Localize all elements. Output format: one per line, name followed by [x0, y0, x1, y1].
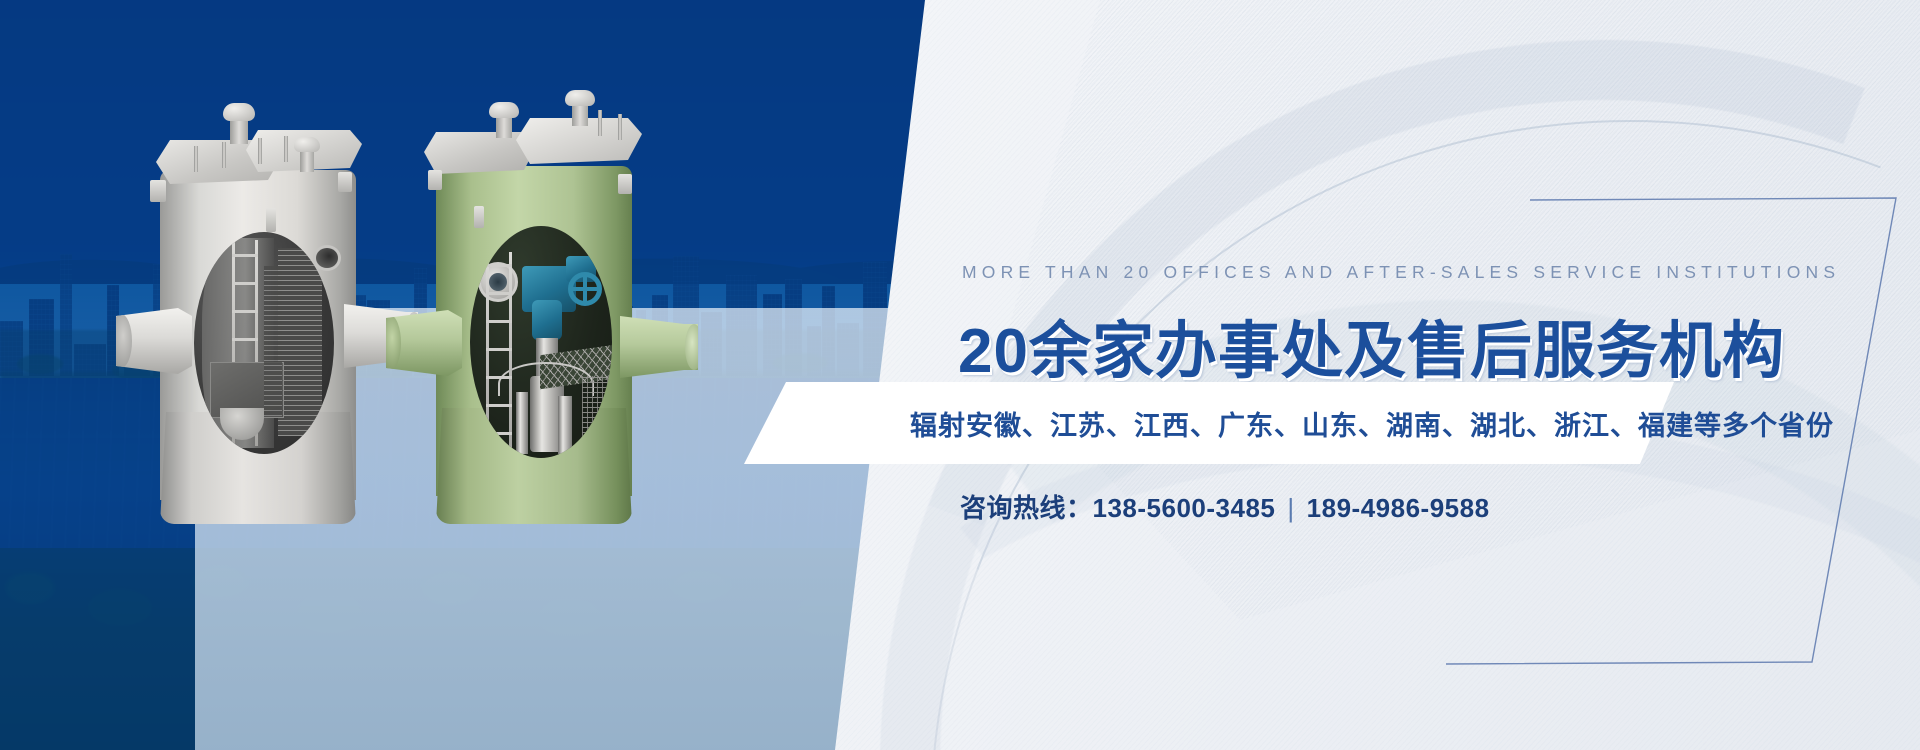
green-outlet-pipe-right	[620, 316, 698, 378]
green-handwheel	[568, 272, 602, 306]
gray-cutaway-window	[194, 232, 334, 454]
gray-guide-rod-2	[222, 142, 226, 168]
green-guide-rod-2	[618, 114, 622, 140]
gray-side-port	[316, 248, 338, 268]
gray-guide-rod-4	[284, 136, 288, 162]
page-title: 20余家办事处及售后服务机构	[958, 300, 1785, 390]
subtitle-text: 辐射安徽、江苏、江西、广东、山东、湖南、湖北、浙江、福建等多个省份	[910, 404, 1834, 443]
eyebrow-english-tagline: MORE THAN 20 OFFICES AND AFTER-SALES SER…	[962, 262, 1840, 283]
promo-banner: MORE THAN 20 OFFICES AND AFTER-SALES SER…	[0, 0, 1920, 750]
green-inlet-pipe-left	[386, 310, 462, 376]
gray-bracket	[266, 208, 276, 232]
hotline-separator: |	[1275, 493, 1306, 523]
green-lifting-lug-right	[618, 174, 632, 194]
green-vent-stack-b	[572, 100, 588, 126]
green-vent-stack-a	[496, 112, 512, 138]
gray-guide-rod-3	[258, 138, 262, 164]
green-standpipe-2	[558, 396, 572, 454]
gray-lifting-lug-left	[150, 180, 166, 202]
hotline-block: 咨询热线：138-5600-3485|189-4986-9588	[960, 488, 1490, 525]
gray-grate-panel-inner	[264, 266, 282, 416]
green-valve-riser	[532, 300, 562, 340]
green-cutaway-window	[470, 226, 612, 458]
gray-grate-panel-right	[278, 248, 322, 436]
green-lifting-lug-left	[428, 170, 442, 190]
green-guide-rod-1	[598, 110, 602, 136]
green-access-ladder	[486, 252, 512, 448]
product-gray-pump-station	[138, 112, 418, 512]
green-screen-mesh	[582, 376, 608, 448]
gray-inlet-pipe-left	[116, 308, 192, 374]
hotline-number-1[interactable]: 138-5600-3485	[1093, 493, 1276, 523]
hotline-number-2[interactable]: 189-4986-9588	[1307, 493, 1490, 523]
green-standpipe-1	[516, 392, 528, 454]
gray-lifting-lug-right	[338, 172, 352, 192]
gray-vent-stack-a	[230, 114, 248, 144]
product-green-pump-station	[412, 104, 698, 514]
hotline-label: 咨询热线：	[960, 493, 1093, 523]
gray-guide-rod-1	[194, 146, 198, 172]
gray-vent-stack-b	[300, 146, 314, 172]
green-bracket	[474, 206, 484, 228]
